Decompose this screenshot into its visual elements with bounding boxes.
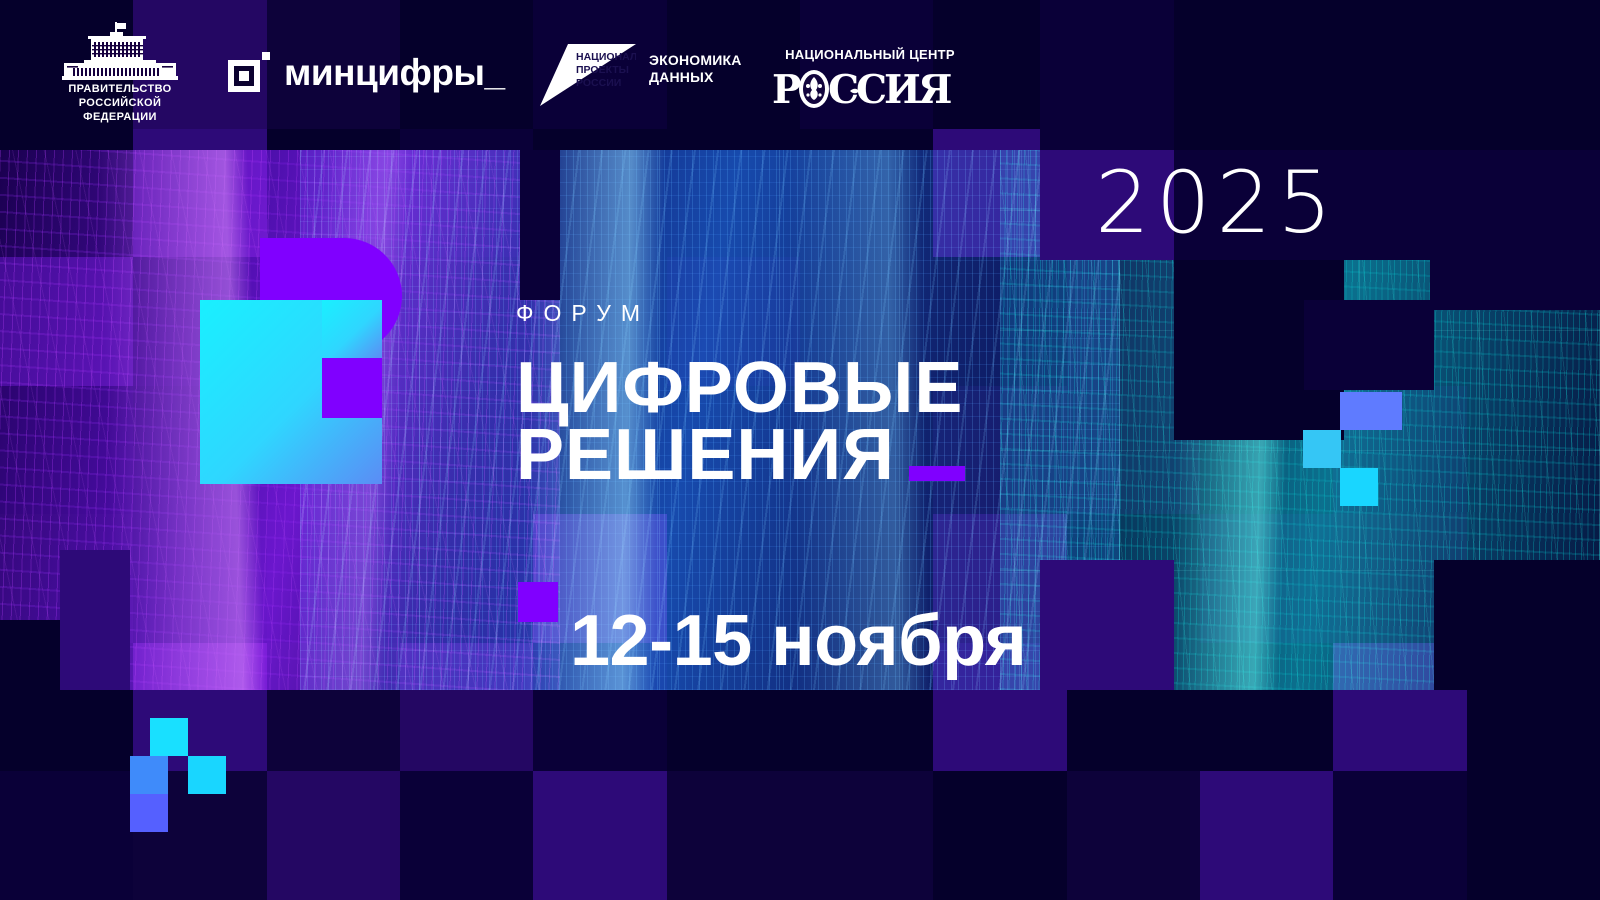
logo-government-line-2: РОССИЙСКОЙ xyxy=(68,97,171,111)
pixel-square-blue-r1 xyxy=(1340,392,1402,430)
national-projects-flag-icon: НАЦИОНАЛЬНЫЕ ПРОЕКТЫ РОССИИ xyxy=(540,44,636,108)
event-title-line-1: ЦИФРОВЫЕ xyxy=(516,355,965,422)
overlay-block xyxy=(520,150,560,300)
logo-economy-of-data: НАЦИОНАЛЬНЫЕ ПРОЕКТЫ РОССИИ ЭКОНОМИКА ДА… xyxy=(540,44,742,108)
logo-national-centre-russia: НАЦИОНАЛЬНЫЙ ЦЕНТР Р С С И Я xyxy=(770,48,970,116)
logo-government-line-1: ПРАВИТЕЛЬСТВО xyxy=(68,83,171,97)
mincifry-square-icon xyxy=(228,52,270,92)
overlay-block xyxy=(1434,560,1600,690)
logo-national-centre-label: НАЦИОНАЛЬНЫЙ ЦЕНТР xyxy=(770,48,970,61)
svg-text:НАЦИОНАЛЬНЫЕ: НАЦИОНАЛЬНЫЕ xyxy=(576,51,636,63)
russia-ornate-wordmark: Р С С И Я xyxy=(772,65,968,111)
header-logo-row: ПРАВИТЕЛЬСТВО РОССИЙСКОЙ ФЕДЕРАЦИИ минци… xyxy=(0,0,1600,150)
overlay-block xyxy=(1304,300,1434,390)
logo-mincifry: минцифры_ xyxy=(228,52,505,92)
event-date-block: 12-15 ноября xyxy=(570,605,1026,677)
logo-government-line-3: ФЕДЕРАЦИИ xyxy=(68,111,171,125)
event-banner: ПРАВИТЕЛЬСТВО РОССИЙСКОЙ ФЕДЕРАЦИИ минци… xyxy=(0,0,1600,900)
government-building-icon xyxy=(58,22,182,80)
overlay-block xyxy=(1430,190,1600,310)
pixel-square-cyan-r2 xyxy=(1303,430,1341,468)
pixel-square-blue-left xyxy=(130,756,168,794)
logo-economy-label-line-1: ЭКОНОМИКА xyxy=(649,52,742,69)
title-underscore-accent xyxy=(909,466,965,481)
overlay-block xyxy=(60,550,130,690)
logo-economy-label-line-2: ДАННЫХ xyxy=(649,69,742,86)
event-title-block: ФОРУМ ЦИФРОВЫЕ РЕШЕНИЯ xyxy=(516,300,965,489)
svg-text:И: И xyxy=(884,67,922,111)
logo-mincifry-wordmark: минцифры_ xyxy=(284,54,505,91)
svg-text:РОССИИ: РОССИИ xyxy=(576,77,621,89)
event-title-line-2: РЕШЕНИЯ xyxy=(516,422,895,489)
svg-text:Я: Я xyxy=(918,67,953,111)
pixel-square-cyan-right xyxy=(188,756,226,794)
event-date: 12-15 ноября xyxy=(570,605,1026,677)
overlay-block xyxy=(0,620,60,690)
pixel-square-indigo-left xyxy=(130,794,168,832)
pixel-square-cyan-r3 xyxy=(1340,468,1378,506)
overlay-block xyxy=(1040,560,1174,690)
logo-government-of-russia: ПРАВИТЕЛЬСТВО РОССИЙСКОЙ ФЕДЕРАЦИИ xyxy=(58,22,198,124)
forum-logomark-r xyxy=(194,230,456,492)
event-kicker: ФОРУМ xyxy=(516,300,965,327)
svg-text:Р: Р xyxy=(772,67,802,111)
pixel-square-cyan-top xyxy=(150,718,188,756)
svg-text:ПРОЕКТЫ: ПРОЕКТЫ xyxy=(576,64,629,76)
event-year: 2025 xyxy=(1095,160,1338,246)
date-square-accent xyxy=(518,582,558,622)
